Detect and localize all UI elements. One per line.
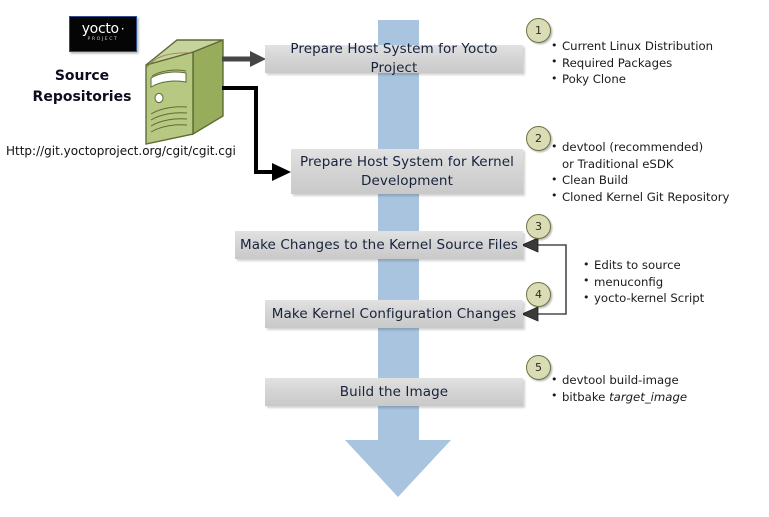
notes-step1: Current Linux Distribution Required Pack…	[551, 38, 713, 88]
step-number-circle-3: 3	[526, 214, 551, 239]
process-box-step2-line2: Development	[361, 173, 453, 189]
process-box-step5[interactable]: Build the Image	[265, 378, 523, 406]
process-box-step2[interactable]: Prepare Host System for Kernel Developme…	[291, 149, 523, 194]
step-number-circle-4: 4	[526, 282, 551, 307]
step-number-4: 4	[535, 288, 542, 301]
diagram-canvas: yocto· PROJECT Source Repositories Http:…	[0, 0, 769, 517]
note-item: Clean Build	[551, 172, 729, 189]
process-box-step3-label: Make Changes to the Kernel Source Files	[240, 236, 518, 255]
connector-server-to-step1	[222, 51, 266, 67]
step-number-2: 2	[535, 132, 542, 145]
process-box-step2-label: Prepare Host System for Kernel Developme…	[300, 153, 514, 191]
step-number-3: 3	[535, 220, 542, 233]
step-number-5: 5	[535, 361, 542, 374]
notes-steps-3-4: Edits to source menuconfig yocto-kernel …	[583, 257, 704, 307]
notes-step2: devtool (recommended) or Traditional eSD…	[551, 139, 729, 205]
note-bitbake-target: target_image	[609, 390, 687, 404]
note-item: Edits to source	[583, 257, 704, 274]
step-number-circle-5: 5	[526, 355, 551, 380]
note-item: Cloned Kernel Git Repository	[551, 189, 729, 206]
process-box-step3[interactable]: Make Changes to the Kernel Source Files	[235, 231, 523, 259]
note-item: Poky Clone	[551, 71, 713, 88]
connector-bracket-steps-3-4	[522, 238, 566, 321]
connector-server-to-step2	[222, 88, 291, 181]
step-number-circle-1: 1	[526, 18, 551, 43]
process-box-step5-label: Build the Image	[340, 383, 448, 402]
note-item: Current Linux Distribution	[551, 38, 713, 55]
process-box-step1[interactable]: Prepare Host System for Yocto Project	[265, 45, 523, 73]
step-number-1: 1	[535, 24, 542, 37]
process-box-step2-line1: Prepare Host System for Kernel	[300, 154, 514, 170]
process-box-step4-label: Make Kernel Configuration Changes	[272, 305, 516, 324]
process-box-step4[interactable]: Make Kernel Configuration Changes	[265, 300, 523, 328]
note-item: devtool (recommended) or Traditional eSD…	[551, 139, 712, 172]
note-item: yocto-kernel Script	[583, 290, 704, 307]
note-bitbake-command: bitbake	[562, 390, 609, 404]
step-number-circle-2: 2	[526, 126, 551, 151]
note-item: devtool build-image	[551, 372, 687, 389]
note-item: Required Packages	[551, 55, 713, 72]
process-box-step1-label: Prepare Host System for Yocto Project	[265, 40, 523, 78]
notes-step5: devtool build-image bitbake target_image	[551, 372, 687, 405]
note-item: menuconfig	[583, 274, 704, 291]
note-item-bitbake: bitbake target_image	[551, 389, 687, 406]
